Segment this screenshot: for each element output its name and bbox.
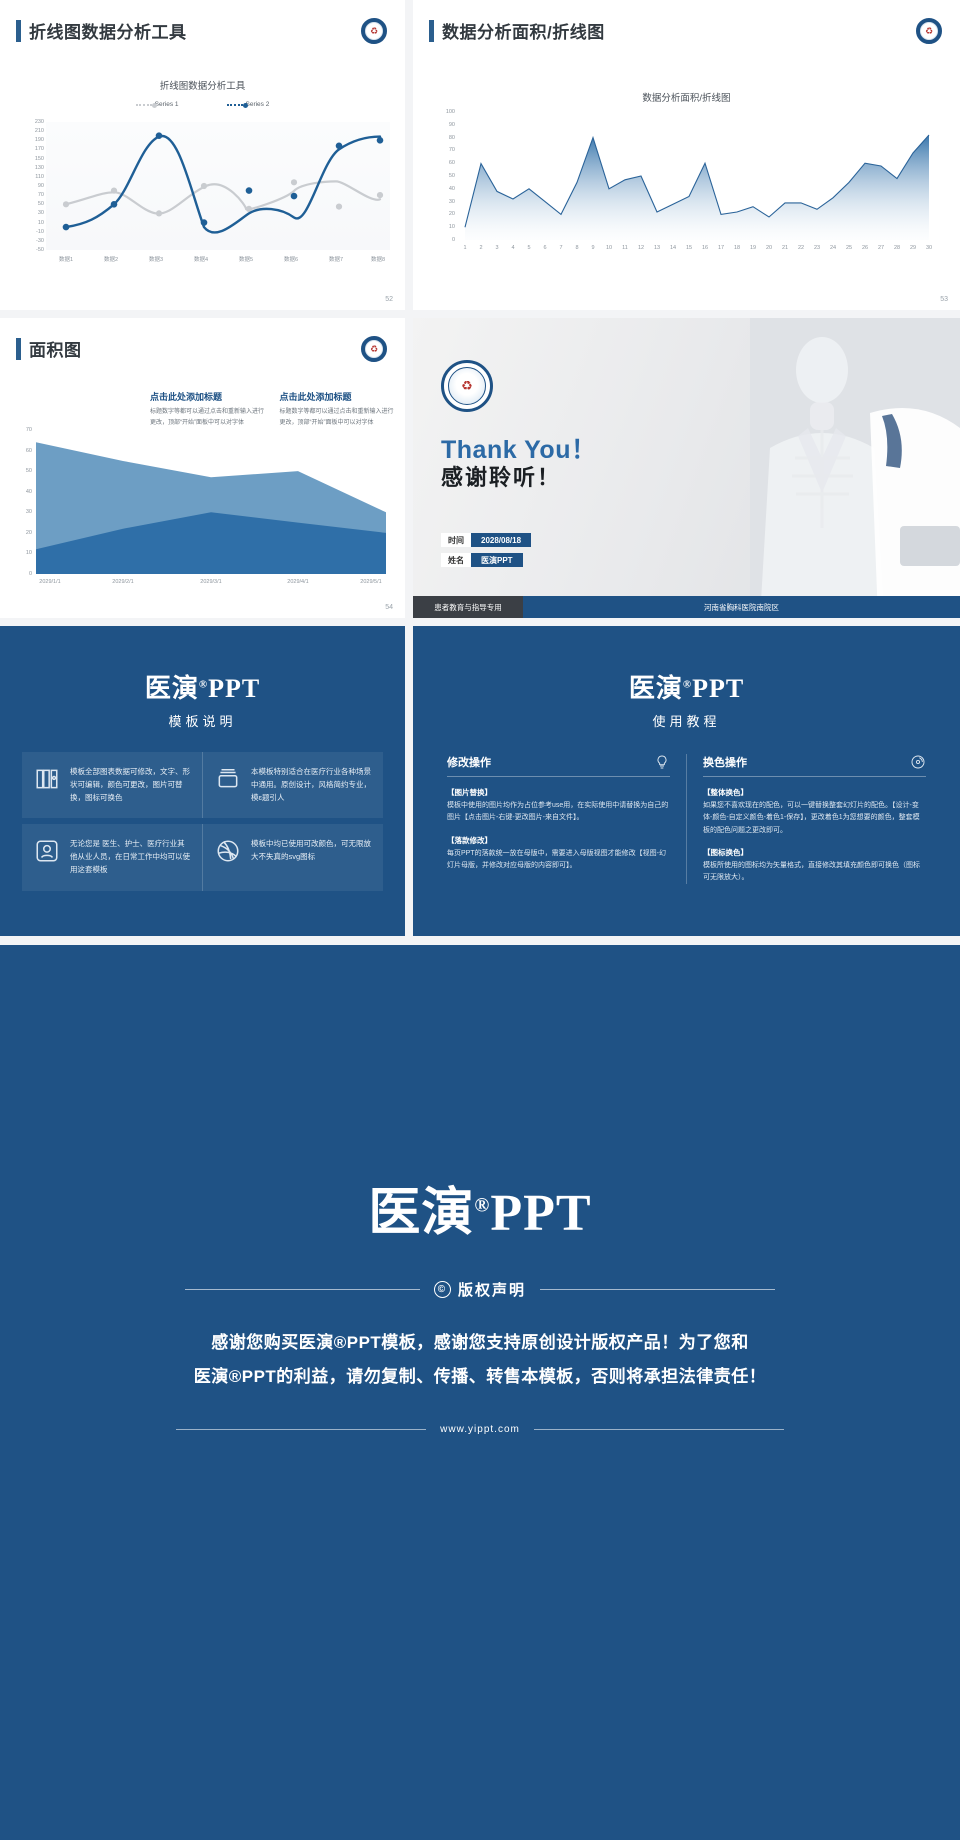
copyright-brand-block: 医演®PPT [0,945,960,1245]
x-tick: 28 [894,245,900,251]
x-axis: 1 2 3 4 5 6 7 8 9 10 11 12 13 14 15 16 1… [459,245,939,257]
y-tick: 40 [10,489,32,495]
slide-footer: 患者教育与指导专用 河南省胸科医院南院区 [413,596,960,618]
hospital-logo: ♻ [441,360,493,412]
x-tick: 19 [750,245,756,251]
caption-block: 点击此处添加标题 标题数字等都可以通过点击和重新输入进行更改，顶部“开始”面板中… [150,390,266,429]
brand-subtitle: 使用教程 [413,711,960,730]
slide-tutorial[interactable]: 医演®PPT 使用教程 修改操作 【图片替换】 模板中使用的图片均作为占位参考u… [413,626,960,936]
tutorial-block-title: 【整体换色】 [703,787,926,798]
y-tick: 30 [433,199,455,205]
tutorial-column-color: 换色操作 【整体换色】 如果您不喜欢现在的配色，可以一键替换整套幻灯片的配色。【… [687,754,942,884]
brand-logo: 医演®PPT [413,668,960,705]
y-tick: 20 [10,530,32,536]
x-tick: 数据1 [59,255,73,263]
copyright-line-2: 医演®PPT的利益，请勿复制、传播、转售本模板，否则将承担法律责任！ [0,1360,960,1394]
y-tick: 210 [22,128,44,134]
x-tick: 数据8 [371,255,385,263]
area-line-chart-plot: 100 90 80 70 60 50 40 30 20 10 0 [429,112,944,267]
tutorial-heading: 修改操作 [447,754,491,770]
tutorial-block-body: 如果您不喜欢现在的配色，可以一键替换整套幻灯片的配色。【设计-变体-颜色-自定义… [703,800,926,837]
bulb-icon [654,754,670,770]
divider-line [540,1289,775,1290]
brand-block: 医演®PPT 模板说明 [0,626,405,730]
x-tick: 10 [606,245,612,251]
y-axis: 100 90 80 70 60 50 40 30 20 10 0 [429,112,455,240]
info-card-row-1: 模板全部图表数据可修改，文字、形状可编辑，颜色可更改，图片可替换，图标可换色 本… [0,752,405,818]
slide-header: 面积图 [16,336,82,361]
x-tick: 7 [559,245,562,251]
slide-number: 52 [385,296,393,303]
crest-inner: ♻ [920,22,938,40]
legend-marker-icon [136,104,152,106]
y-tick: 70 [433,147,455,153]
x-tick: 13 [654,245,660,251]
dribbble-icon [215,838,241,864]
legend-label: Series 1 [155,101,179,108]
x-tick: 17 [718,245,724,251]
y-axis: 70 60 50 40 30 20 10 0 [6,430,32,574]
brand-name: 医演 [629,674,683,703]
x-tick: 29 [910,245,916,251]
brand-registered-icon: ® [474,1195,490,1217]
y-tick: 90 [433,122,455,128]
x-axis: 数据1 数据2 数据3 数据4 数据5 数据6 数据7 数据8 [46,255,390,267]
x-tick: 16 [702,245,708,251]
x-tick: 24 [830,245,836,251]
slide-header: 折线图数据分析工具 [16,18,187,43]
brand-registered-icon: ® [683,678,692,690]
x-tick: 2029/5/1 [360,579,381,585]
x-tick: 数据6 [284,255,298,263]
x-tick: 数据5 [239,255,253,263]
field-value: 医演PPT [471,553,523,567]
x-tick: 2 [479,245,482,251]
x-tick: 8 [575,245,578,251]
info-card[interactable]: 本模板特别适合在医疗行业各种场景中通用。原创设计，风格简约专业，模ɛ题引人 [202,752,383,818]
x-tick: 18 [734,245,740,251]
x-tick: 30 [926,245,932,251]
presentation-overview: 折线图数据分析工具 ♻ 折线图数据分析工具 Series 1 Series 2 … [0,0,960,1840]
field-value: 2028/08/18 [471,533,531,547]
caption-block: 点击此处添加标题 标题数字等都可以通过点击和重新输入进行更改，顶部“开始”面板中… [280,390,396,429]
x-tick: 22 [798,245,804,251]
x-tick: 9 [591,245,594,251]
line-series-svg [46,122,390,250]
x-tick: 21 [782,245,788,251]
y-tick: 10 [22,220,44,226]
website-url[interactable]: www.yippt.com [440,1424,520,1435]
caption-group: 点击此处添加标题 标题数字等都可以通过点击和重新输入进行更改，顶部“开始”面板中… [150,390,395,429]
x-tick: 12 [638,245,644,251]
x-tick: 2029/2/1 [112,579,133,585]
y-tick: 170 [22,146,44,152]
y-tick: 40 [433,186,455,192]
brand-name: 医演 [368,1185,474,1242]
info-card-text: 本模板特别适合在医疗行业各种场景中通用。原创设计，风格简约专业，模ɛ题引人 [251,766,371,804]
user-icon [34,838,60,864]
caption-heading: 点击此处添加标题 [280,390,396,403]
slide-line-chart[interactable]: 折线图数据分析工具 ♻ 折线图数据分析工具 Series 1 Series 2 … [0,0,405,310]
thank-you-chinese: 感谢聆听！ [441,460,561,492]
x-tick: 数据2 [104,255,118,263]
tutorial-block-title: 【图片替换】 [447,787,670,798]
y-tick: 90 [22,183,44,189]
x-tick: 2029/4/1 [287,579,308,585]
hospital-crest-icon: ♻ [916,18,942,44]
y-tick: 30 [10,509,32,515]
chart-title: 数据分析面积/折线图 [413,90,960,104]
brand-block: 医演®PPT 使用教程 [413,626,960,730]
brand-subtitle: 模板说明 [0,711,405,730]
copyright-badge-label: 版权声明 [458,1279,526,1300]
info-card-text: 无论您是 医生、护士、医疗行业其他从业人员，在日常工作中均可以使用这套模板 [70,838,190,876]
stacked-area-plot: 70 60 50 40 30 20 10 0 2029/1/1 2029/2/1… [6,430,396,595]
logo-ring-icon: ♻ [448,367,486,405]
tutorial-block: 【图片替换】 模板中使用的图片均作为占位参考use用，在实际使用中请替换为自己的… [447,787,670,825]
book-icon [34,766,60,792]
y-tick: 60 [433,160,455,166]
page-title: 数据分析面积/折线图 [442,18,605,43]
hospital-crest-icon: ♻ [361,336,387,362]
slide-template-intro[interactable]: 医演®PPT 模板说明 模板全部图表数据可修改，文字、形状可编辑，颜色可更改，图… [0,626,405,936]
y-tick: 150 [22,156,44,162]
divider-line [185,1289,420,1290]
slide-header: 数据分析面积/折线图 [429,18,605,43]
legend-item-series2: Series 2 [227,101,270,108]
tutorial-columns: 修改操作 【图片替换】 模板中使用的图片均作为占位参考use用，在实际使用中请替… [413,754,960,884]
x-tick: 数据3 [149,255,163,263]
info-card-row-2: 无论您是 医生、护士、医疗行业其他从业人员，在日常工作中均可以使用这套模板 模板… [0,824,405,890]
slide-copyright[interactable]: 医演®PPT © 版权声明 感谢您购买医演®PPT模板，感谢您支持原创设计版权产… [0,945,960,1840]
x-tick: 11 [622,245,628,251]
slide-number: 53 [940,296,948,303]
header-accent-bar [429,20,434,42]
y-tick: 50 [433,173,455,179]
x-axis: 2029/1/1 2029/2/1 2029/3/1 2029/4/1 2029… [36,579,386,591]
copyright-paragraph: 感谢您购买医演®PPT模板，感谢您支持原创设计版权产品！为了您和 医演®PPT的… [0,1326,960,1394]
copyright-badge: © 版权声明 [434,1279,526,1300]
copyright-line-1: 感谢您购买医演®PPT模板，感谢您支持原创设计版权产品！为了您和 [0,1326,960,1360]
info-card[interactable]: 模板全部图表数据可修改，文字、形状可编辑，颜色可更改，图片可替换，图标可换色 [22,752,202,818]
y-tick: 70 [10,427,32,433]
tutorial-block: 【落款修改】 每页PPT的落款统一放在母版中，需要进入母版视图才能修改【视图-幻… [447,835,670,873]
y-tick: -50 [22,247,44,253]
x-tick: 数据4 [194,255,208,263]
y-tick: 50 [22,201,44,207]
legend-item-series1: Series 1 [136,101,179,108]
y-tick: 100 [433,109,455,115]
tutorial-block: 【图标换色】 模板所使用的图标均为矢量格式，直接修改其填充颜色即可换色（图标可无… [703,847,926,885]
y-tick: 0 [433,237,455,243]
slide-area-chart[interactable]: 面积图 ♻ 点击此处添加标题 标题数字等都可以通过点击和重新输入进行更改，顶部“… [0,318,405,618]
doctor-photo [750,318,960,618]
x-tick: 2029/3/1 [200,579,221,585]
area-series-svg [459,112,939,240]
copyright-divider: © 版权声明 [0,1279,960,1300]
x-tick: 23 [814,245,820,251]
tutorial-block-body: 每页PPT的落款统一放在母版中，需要进入母版视图才能修改【视图-幻灯片母版，并修… [447,848,670,873]
y-tick: 0 [10,571,32,577]
hospital-crest-icon: ♻ [361,18,387,44]
palette-icon [910,754,926,770]
info-card[interactable]: 无论您是 医生、护士、医疗行业其他从业人员，在日常工作中均可以使用这套模板 [22,824,202,890]
field-label: 姓名 [441,553,471,567]
field-label: 时间 [441,533,471,547]
y-tick: 60 [10,448,32,454]
field-name: 姓名 医演PPT [441,553,523,567]
tutorial-column-header: 修改操作 [447,754,670,777]
tutorial-column-edit: 修改操作 【图片替换】 模板中使用的图片均作为占位参考use用，在实际使用中请替… [431,754,687,884]
url-divider: www.yippt.com [0,1424,960,1435]
line-chart-plot: 230 210 190 170 150 130 110 90 70 50 30 … [20,122,390,272]
doctor-illustration-icon [750,318,960,618]
info-card[interactable]: 模板中均已使用可改颜色，可无限放大不失真的svg图标 [202,824,383,890]
caption-heading: 点击此处添加标题 [150,390,266,403]
y-tick: 10 [10,550,32,556]
x-tick: 3 [495,245,498,251]
chart-title: 折线图数据分析工具 [0,78,405,92]
stacked-area-svg [36,430,386,574]
brand-name: 医演 [145,674,199,703]
y-tick: 110 [22,174,44,180]
tutorial-block-title: 【图标换色】 [703,847,926,858]
copyright-symbol-icon: © [434,1281,451,1298]
tutorial-block-title: 【落款修改】 [447,835,670,846]
y-tick: 30 [22,210,44,216]
tutorial-block-body: 模板所使用的图标均为矢量格式，直接修改其填充颜色即可换色（图标可无限放大）。 [703,860,926,885]
slide-number: 54 [385,604,393,611]
x-tick: 20 [766,245,772,251]
footer-right-label: 河南省胸科医院南院区 [523,596,960,618]
y-tick: 190 [22,137,44,143]
info-card-text: 模板全部图表数据可修改，文字、形状可编辑，颜色可更改，图片可替换，图标可换色 [70,766,190,804]
x-tick: 6 [543,245,546,251]
tutorial-block: 【整体换色】 如果您不喜欢现在的配色，可以一键替换整套幻灯片的配色。【设计-变体… [703,787,926,837]
x-tick: 数据7 [329,255,343,263]
slide-area-line-chart[interactable]: 数据分析面积/折线图 ♻ 数据分析面积/折线图 100 90 80 70 60 … [413,0,960,310]
y-tick: 10 [433,224,455,230]
info-card-text: 模板中均已使用可改颜色，可无限放大不失真的svg图标 [251,838,371,864]
y-tick: -10 [22,229,44,235]
x-tick: 5 [527,245,530,251]
y-tick: 50 [10,468,32,474]
tutorial-heading: 换色操作 [703,754,747,770]
y-tick: 70 [22,192,44,198]
slide-thank-you[interactable]: ♻ Thank You！ 感谢聆听！ 时间 2028/08/18 姓名 医演PP… [413,318,960,618]
y-tick: 130 [22,165,44,171]
x-tick: 4 [511,245,514,251]
y-tick: 20 [433,211,455,217]
brand-registered-icon: ® [199,678,208,690]
x-tick: 26 [862,245,868,251]
page-title: 面积图 [29,336,82,361]
tutorial-column-header: 换色操作 [703,754,926,777]
caption-body: 标题数字等都可以通过点击和重新输入进行更改，顶部“开始”面板中可以对字体 [280,407,396,429]
brand-suffix: PPT [208,674,260,703]
x-tick: 14 [670,245,676,251]
x-tick: 25 [846,245,852,251]
tutorial-block-body: 模板中使用的图片均作为占位参考use用，在实际使用中请替换为自己的图片【点击图片… [447,800,670,825]
legend-label: Series 2 [246,101,270,108]
y-tick: -30 [22,238,44,244]
header-accent-bar [16,20,21,42]
caption-body: 标题数字等都可以通过点击和重新输入进行更改，顶部“开始”面板中可以对字体 [150,407,266,429]
brand-logo-large: 医演®PPT [0,1170,960,1245]
crest-inner: ♻ [365,340,383,358]
y-axis: 230 210 190 170 150 130 110 90 70 50 30 … [20,122,44,250]
x-tick: 15 [686,245,692,251]
brand-suffix: PPT [692,674,744,703]
divider-line [534,1429,784,1430]
header-accent-bar [16,338,21,360]
x-tick: 27 [878,245,884,251]
field-date: 时间 2028/08/18 [441,533,531,547]
crest-inner: ♻ [365,22,383,40]
x-tick: 2029/1/1 [39,579,60,585]
page-title: 折线图数据分析工具 [29,18,187,43]
y-tick: 80 [433,135,455,141]
brand-suffix: PPT [490,1185,591,1242]
x-tick: 1 [463,245,466,251]
layers-icon [215,766,241,792]
footer-left-label: 患者教育与指导专用 [413,596,523,618]
brand-logo: 医演®PPT [0,668,405,705]
y-tick: 230 [22,119,44,125]
legend-marker-icon [227,104,243,106]
divider-line [176,1429,426,1430]
chart-legend: Series 1 Series 2 [0,101,405,108]
